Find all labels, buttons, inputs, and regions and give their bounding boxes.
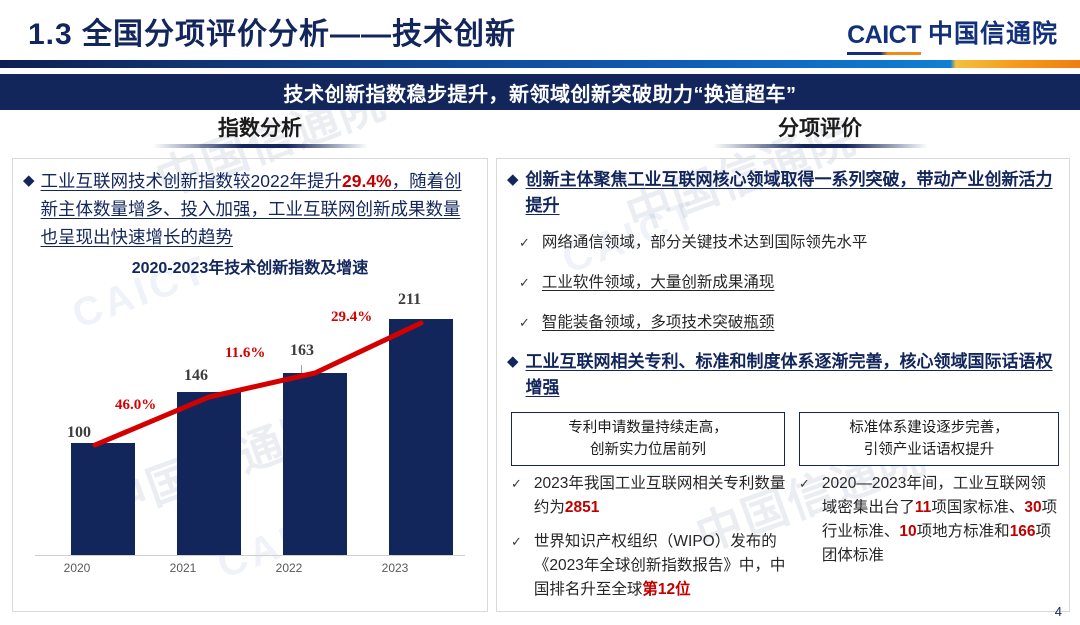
logo-underline-icon (847, 52, 921, 55)
check-item-wipo-text: 世界知识产权组织（WIPO）发布的《2023年全球创新指数报告》中，中国排名升至… (534, 530, 791, 602)
chart-growth-label: 11.6% (225, 345, 265, 362)
section-title-left: 指数分析 (100, 116, 420, 150)
std-group-count: 166 (1010, 523, 1036, 540)
index-analysis-lead: ◆ 工业互联网技术创新指数较2022年提升29.4%，随着创新主体数量增多、投入… (23, 167, 475, 251)
page-title: 1.3 全国分项评价分析——技术创新 (28, 9, 516, 53)
page-number: 4 (1055, 604, 1062, 619)
subitem-evaluation-panel: ◆ 创新主体聚焦工业互联网核心领域取得一系列突破，带动产业创新活力提升 ✓ 网络… (496, 158, 1070, 612)
callout-box-standards: 标准体系建设逐步完善， 引领产业话语权提升 (799, 412, 1059, 466)
key-message-banner: 技术创新指数稳步提升，新领域创新突破助力“换道超车” (0, 74, 1080, 110)
index-analysis-panel: ◆ 工业互联网技术创新指数较2022年提升29.4%，随着创新主体数量增多、投入… (12, 158, 488, 612)
diamond-bullet-icon: ◆ (507, 167, 519, 219)
logo-cn-name: 中国信通院 (928, 14, 1058, 55)
chart-title: 2020-2023年技术创新指数及增速 (13, 254, 487, 278)
chart-trend-line-icon (43, 287, 457, 555)
std-text-p2: 项国家标准、 (931, 499, 1024, 516)
std-text-p4: 项地方标准和 (917, 523, 1010, 540)
callout-line: 专利申请数量持续走高， (568, 417, 728, 439)
logo-abbr: CAICT (847, 21, 921, 49)
std-local-count: 10 (899, 523, 916, 540)
check-icon: ✓ (511, 530, 522, 602)
check-icon: ✓ (519, 271, 530, 295)
logo-mark: CAICT (847, 21, 921, 55)
section-title-left-label: 指数分析 (218, 116, 302, 142)
subitem-heading-2-text: 工业互联网相关专利、标准和制度体系逐渐完善，核心领域国际话语权增强 (526, 349, 1059, 401)
chart-x-tick-label: 2022 (244, 561, 334, 575)
check-icon: ✓ (511, 472, 522, 520)
header-gradient-bar (0, 60, 1080, 68)
callout-box-patents-text: 专利申请数量持续走高， 创新实力位居前列 (568, 417, 728, 461)
std-national-count: 11 (915, 499, 931, 516)
check-item-wipo: ✓ 世界知识产权组织（WIPO）发布的《2023年全球创新指数报告》中，中国排名… (511, 530, 791, 602)
callout-line: 标准体系建设逐步完善， (849, 417, 1009, 439)
chart-x-tick-label: 2023 (350, 561, 440, 575)
lead-highlight: 29.4% (342, 171, 392, 191)
check-item: ✓ 智能装备领域，多项技术突破瓶颈 (519, 311, 1055, 335)
callout-box-patents: 专利申请数量持续走高， 创新实力位居前列 (511, 412, 785, 466)
check-icon: ✓ (519, 311, 530, 335)
caict-logo: CAICT 中国信通院 (847, 14, 1058, 55)
check-item-standards: ✓ 2020—2023年间，工业互联网领域密集出台了11项国家标准、30项行业标… (799, 472, 1061, 568)
index-analysis-lead-text: 工业互联网技术创新指数较2022年提升29.4%，随着创新主体数量增多、投入加强… (41, 167, 475, 251)
tech-innovation-index-chart: 100 146 163 211 46.0% 11.6% 29.4% 2020 2… (35, 287, 465, 597)
patent-count-value: 2851 (565, 499, 599, 516)
callout-box-standards-text: 标准体系建设逐步完善， 引领产业话语权提升 (849, 417, 1009, 461)
check-item-text: 网络通信领域，部分关键技术达到国际领先水平 (542, 231, 868, 255)
check-item-patent-count-text: 2023年我国工业互联网相关专利数量约为2851 (534, 472, 787, 520)
subitem-heading-1-text: 创新主体聚焦工业互联网核心领域取得一系列突破，带动产业创新活力提升 (526, 167, 1059, 219)
slide-header: 1.3 全国分项评价分析——技术创新 CAICT 中国信通院 (0, 0, 1080, 58)
check-item-patent-count: ✓ 2023年我国工业互联网相关专利数量约为2851 (511, 472, 787, 520)
section-title-right-label: 分项评价 (778, 116, 862, 142)
subitem-heading-1: ◆ 创新主体聚焦工业互联网核心领域取得一系列突破，带动产业创新活力提升 (507, 167, 1059, 219)
check-icon: ✓ (799, 472, 810, 568)
check-item: ✓ 网络通信领域，部分关键技术达到国际领先水平 (519, 231, 1055, 255)
check-item-text: 智能装备领域，多项技术突破瓶颈 (542, 311, 775, 335)
std-industry-count: 30 (1024, 499, 1041, 516)
chart-plot-area: 100 146 163 211 46.0% 11.6% 29.4% (43, 287, 457, 555)
section-title-right: 分项评价 (660, 116, 980, 150)
section-underline-icon (153, 144, 368, 148)
callout-line: 引领产业话语权提升 (849, 439, 1009, 461)
diamond-bullet-icon: ◆ (23, 167, 35, 251)
check-item: ✓ 工业软件领域，大量创新成果涌现 (519, 271, 1055, 295)
check-item-standards-text: 2020—2023年间，工业互联网领域密集出台了11项国家标准、30项行业标准、… (822, 472, 1061, 568)
lead-pre: 工业互联网技术创新指数较2022年提升 (41, 171, 342, 191)
chart-x-axis (35, 555, 465, 556)
slide-root: 中国信通院 中国信通院 中国信通院 中国信通院 CAICT CAICT CAIC… (0, 0, 1080, 625)
chart-growth-label: 46.0% (115, 397, 156, 414)
banner-text: 技术创新指数稳步提升，新领域创新突破助力“换道超车” (284, 78, 797, 107)
check-item-text: 工业软件领域，大量创新成果涌现 (542, 271, 775, 295)
wipo-rank-value: 第12位 (642, 581, 690, 598)
chart-x-tick-label: 2020 (32, 561, 122, 575)
callout-line: 创新实力位居前列 (568, 439, 728, 461)
chart-growth-label: 29.4% (331, 309, 372, 326)
check-icon: ✓ (519, 231, 530, 255)
subitem-heading-2: ◆ 工业互联网相关专利、标准和制度体系逐渐完善，核心领域国际话语权增强 (507, 349, 1059, 401)
chart-x-tick-label: 2021 (138, 561, 228, 575)
diamond-bullet-icon: ◆ (507, 349, 519, 401)
section-underline-icon (713, 144, 928, 148)
